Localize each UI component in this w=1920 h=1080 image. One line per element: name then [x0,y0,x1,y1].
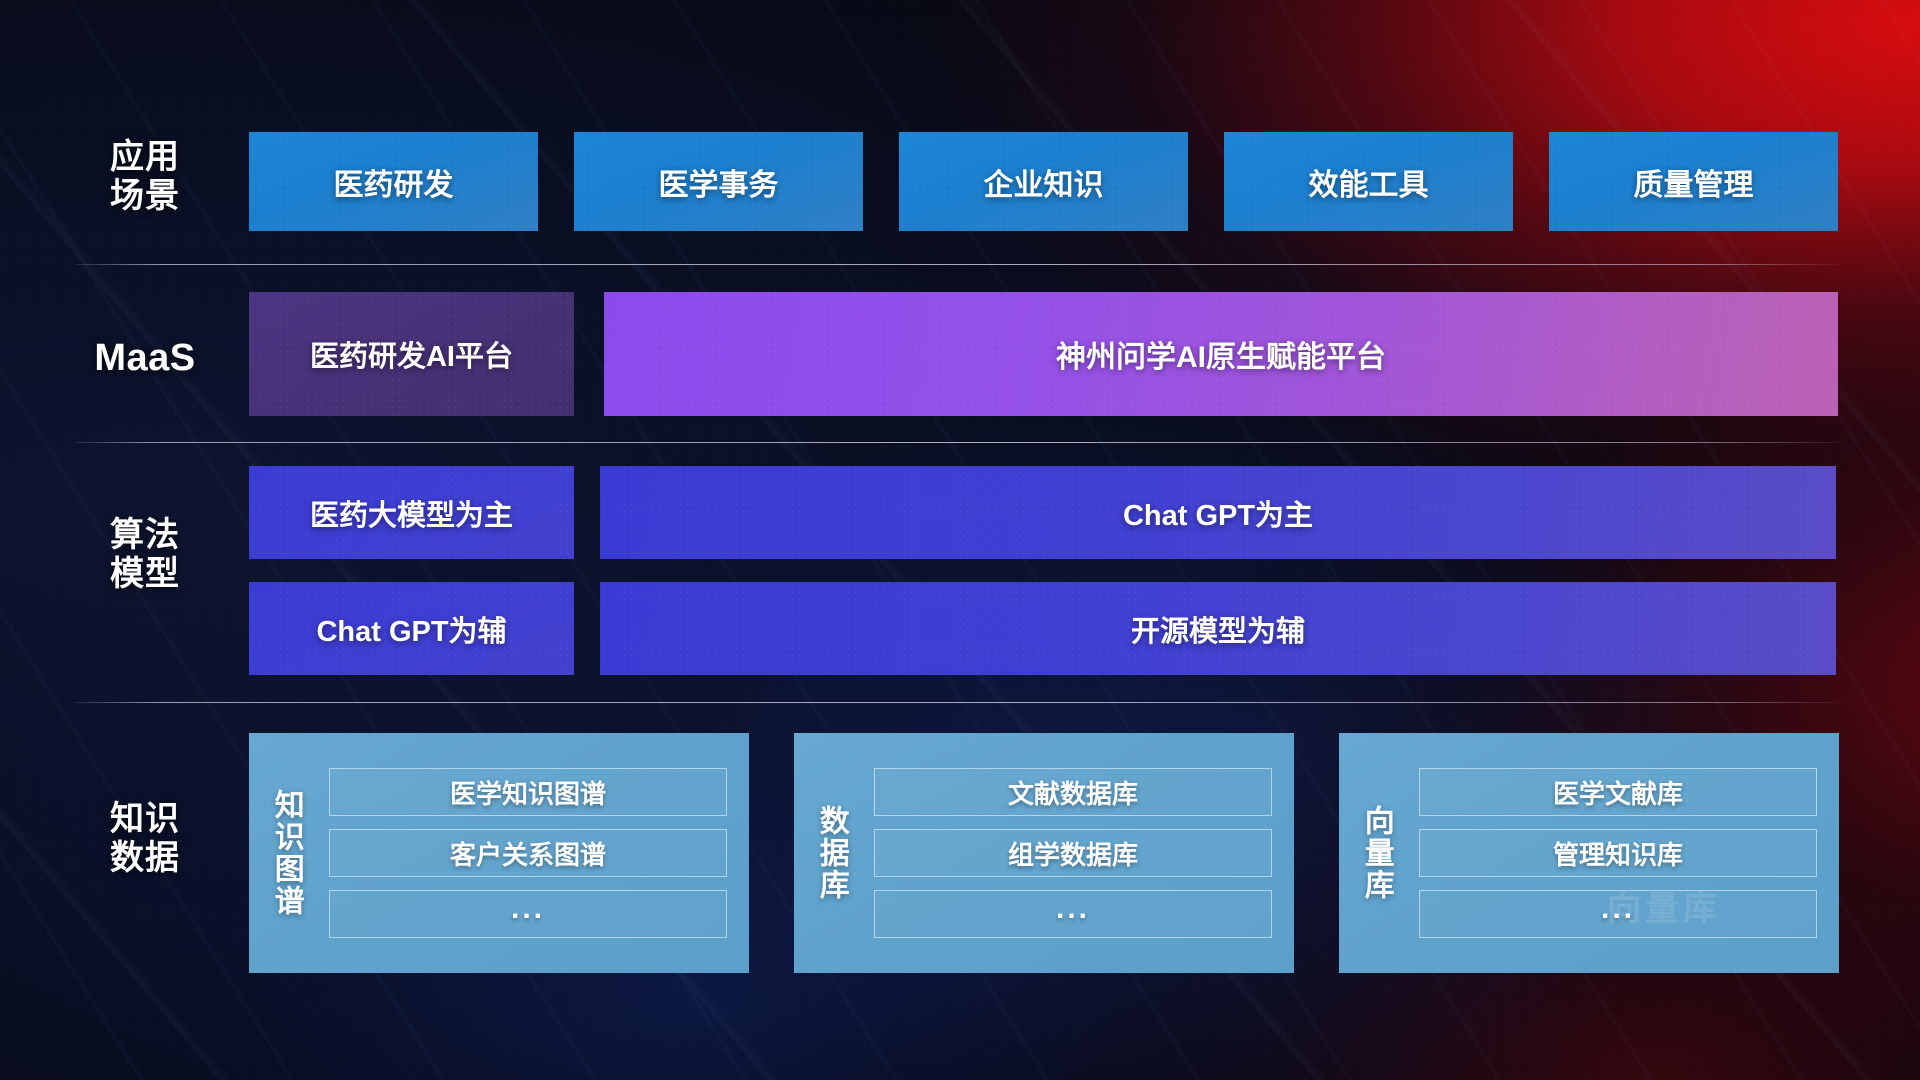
algorithm-box-label: 医药大模型为主 [310,492,513,534]
row-label-maas: MaaS [75,337,215,380]
divider-application-maas [75,264,1838,265]
scenario-box-label: 效能工具 [1309,160,1429,204]
scenario-box-label: 企业知识 [984,160,1104,204]
knowledge-item[interactable]: 管理知识库 [1419,829,1817,877]
knowledge-item[interactable]: 客户关系图谱 [329,829,727,877]
knowledge-panel-item-list: 文献数据库 组学数据库 ... [868,733,1294,973]
scenario-box-drug-rd[interactable]: 医药研发 [249,132,538,231]
maas-box-drug-rd-ai-platform[interactable]: 医药研发AI平台 [249,292,574,416]
scenario-box-efficiency-tools[interactable]: 效能工具 [1224,132,1513,231]
algorithm-box-label: Chat GPT为辅 [316,608,506,650]
scenario-box-enterprise-knowledge[interactable]: 企业知识 [899,132,1188,231]
knowledge-item-more[interactable]: ... [874,890,1272,938]
knowledge-item[interactable]: 组学数据库 [874,829,1272,877]
algorithm-box-opensource-secondary[interactable]: 开源模型为辅 [600,582,1836,675]
scenario-box-medical-affairs[interactable]: 医学事务 [574,132,863,231]
knowledge-panel-item-list: 医学文献库 管理知识库 ... [1413,733,1839,973]
scenario-box-label: 质量管理 [1634,160,1754,204]
divider-algorithm-knowledge [75,702,1838,703]
maas-box-label: 神州问学AI原生赋能平台 [1056,332,1386,376]
row-label-application-scenario: 应用 场景 [75,138,215,216]
algorithm-box-pharma-llm-primary[interactable]: 医药大模型为主 [249,466,574,559]
knowledge-panel-database[interactable]: 数据库 文献数据库 组学数据库 ... [794,733,1294,973]
algorithm-box-chatgpt-primary[interactable]: Chat GPT为主 [600,466,1836,559]
maas-box-shenzhou-wenxue-platform[interactable]: 神州问学AI原生赋能平台 [604,292,1838,416]
maas-box-label: 医药研发AI平台 [310,333,513,375]
row-label-algorithm-model: 算法 模型 [75,516,215,594]
algorithm-box-label: 开源模型为辅 [1131,608,1305,650]
scenario-box-label: 医药研发 [334,160,454,204]
algorithm-box-label: Chat GPT为主 [1123,492,1313,534]
knowledge-panel-title: 向量库 [1339,733,1413,973]
row-label-knowledge-data: 知识 数据 [75,800,215,878]
knowledge-item-more[interactable]: ... [1419,890,1817,938]
knowledge-panel-knowledge-graph[interactable]: 知识图谱 医学知识图谱 客户关系图谱 ... [249,733,749,973]
divider-maas-algorithm [75,442,1838,443]
knowledge-item[interactable]: 医学文献库 [1419,768,1817,816]
knowledge-panel-vector-store[interactable]: 向量库 医学文献库 管理知识库 ... 向量库 [1339,733,1839,973]
knowledge-item[interactable]: 医学知识图谱 [329,768,727,816]
algorithm-box-chatgpt-secondary[interactable]: Chat GPT为辅 [249,582,574,675]
knowledge-item-more[interactable]: ... [329,890,727,938]
scenario-box-quality-management[interactable]: 质量管理 [1549,132,1838,231]
knowledge-panel-title: 数据库 [794,733,868,973]
knowledge-panel-title: 知识图谱 [249,733,323,973]
knowledge-panel-item-list: 医学知识图谱 客户关系图谱 ... [323,733,749,973]
knowledge-item[interactable]: 文献数据库 [874,768,1272,816]
scenario-box-label: 医学事务 [659,160,779,204]
diagram-canvas: 应用 场景 医药研发 医学事务 企业知识 效能工具 质量管理 MaaS 医药研发… [0,0,1920,1080]
